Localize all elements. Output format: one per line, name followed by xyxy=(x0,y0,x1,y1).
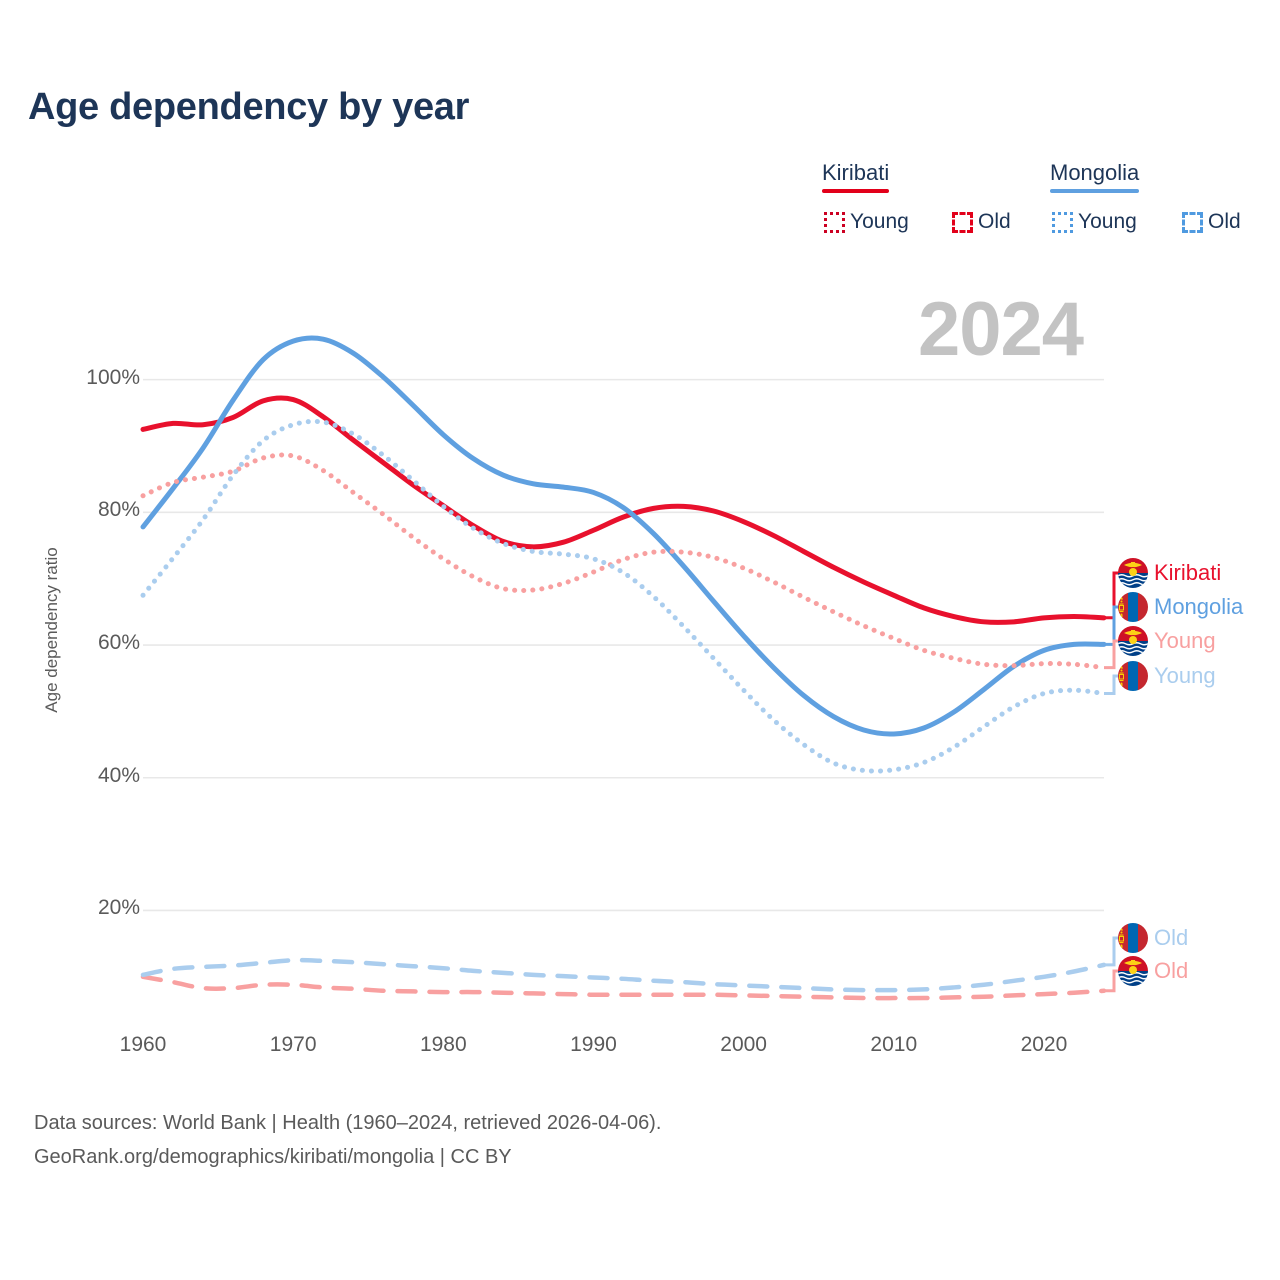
y-tick-label: 40% xyxy=(30,764,140,788)
series-label-mongolia-old[interactable]: Old xyxy=(1118,923,1188,953)
x-tick-label: 2000 xyxy=(684,1033,804,1057)
series-label-kiribati-old[interactable]: Old xyxy=(1118,956,1188,986)
y-tick-label: 20% xyxy=(30,896,140,920)
x-tick-label: 1970 xyxy=(233,1033,353,1057)
series-label-kiribati-young[interactable]: Young xyxy=(1118,626,1216,656)
footer: Data sources: World Bank | Health (1960–… xyxy=(34,1106,661,1175)
series-label-text: Mongolia xyxy=(1154,594,1243,620)
series-label-text: Young xyxy=(1154,663,1216,689)
series-label-text: Kiribati xyxy=(1154,560,1221,586)
x-tick-label: 2020 xyxy=(984,1033,1104,1057)
y-tick-label: 60% xyxy=(30,631,140,655)
plot-area xyxy=(0,0,1280,1080)
series-line-kiribati-young xyxy=(143,455,1104,668)
x-tick-label: 2010 xyxy=(834,1033,954,1057)
series-label-text: Old xyxy=(1154,925,1188,951)
x-tick-label: 1960 xyxy=(83,1033,203,1057)
chart-root: Age dependency by year Kiribati Mongolia… xyxy=(0,0,1280,1280)
footer-attribution[interactable]: GeoRank.org/demographics/kiribati/mongol… xyxy=(34,1140,661,1174)
mongolia-flag-icon xyxy=(1118,592,1148,622)
x-tick-label: 1990 xyxy=(533,1033,653,1057)
footer-data-sources: Data sources: World Bank | Health (1960–… xyxy=(34,1106,661,1140)
series-line-mongolia-young xyxy=(143,421,1104,771)
series-label-text: Old xyxy=(1154,958,1188,984)
series-label-text: Young xyxy=(1154,628,1216,654)
y-tick-label: 100% xyxy=(30,366,140,390)
series-label-mongolia[interactable]: Mongolia xyxy=(1118,592,1243,622)
kiribati-flag-icon xyxy=(1118,558,1148,588)
mongolia-flag-icon xyxy=(1118,661,1148,691)
y-tick-label: 80% xyxy=(30,498,140,522)
kiribati-flag-icon xyxy=(1118,626,1148,656)
series-label-mongolia-young[interactable]: Young xyxy=(1118,661,1216,691)
y-axis-ticks: 20%40%60%80%100% xyxy=(0,0,140,1000)
mongolia-flag-icon xyxy=(1118,923,1148,953)
kiribati-flag-icon xyxy=(1118,956,1148,986)
x-tick-label: 1980 xyxy=(383,1033,503,1057)
series-label-kiribati[interactable]: Kiribati xyxy=(1118,558,1221,588)
